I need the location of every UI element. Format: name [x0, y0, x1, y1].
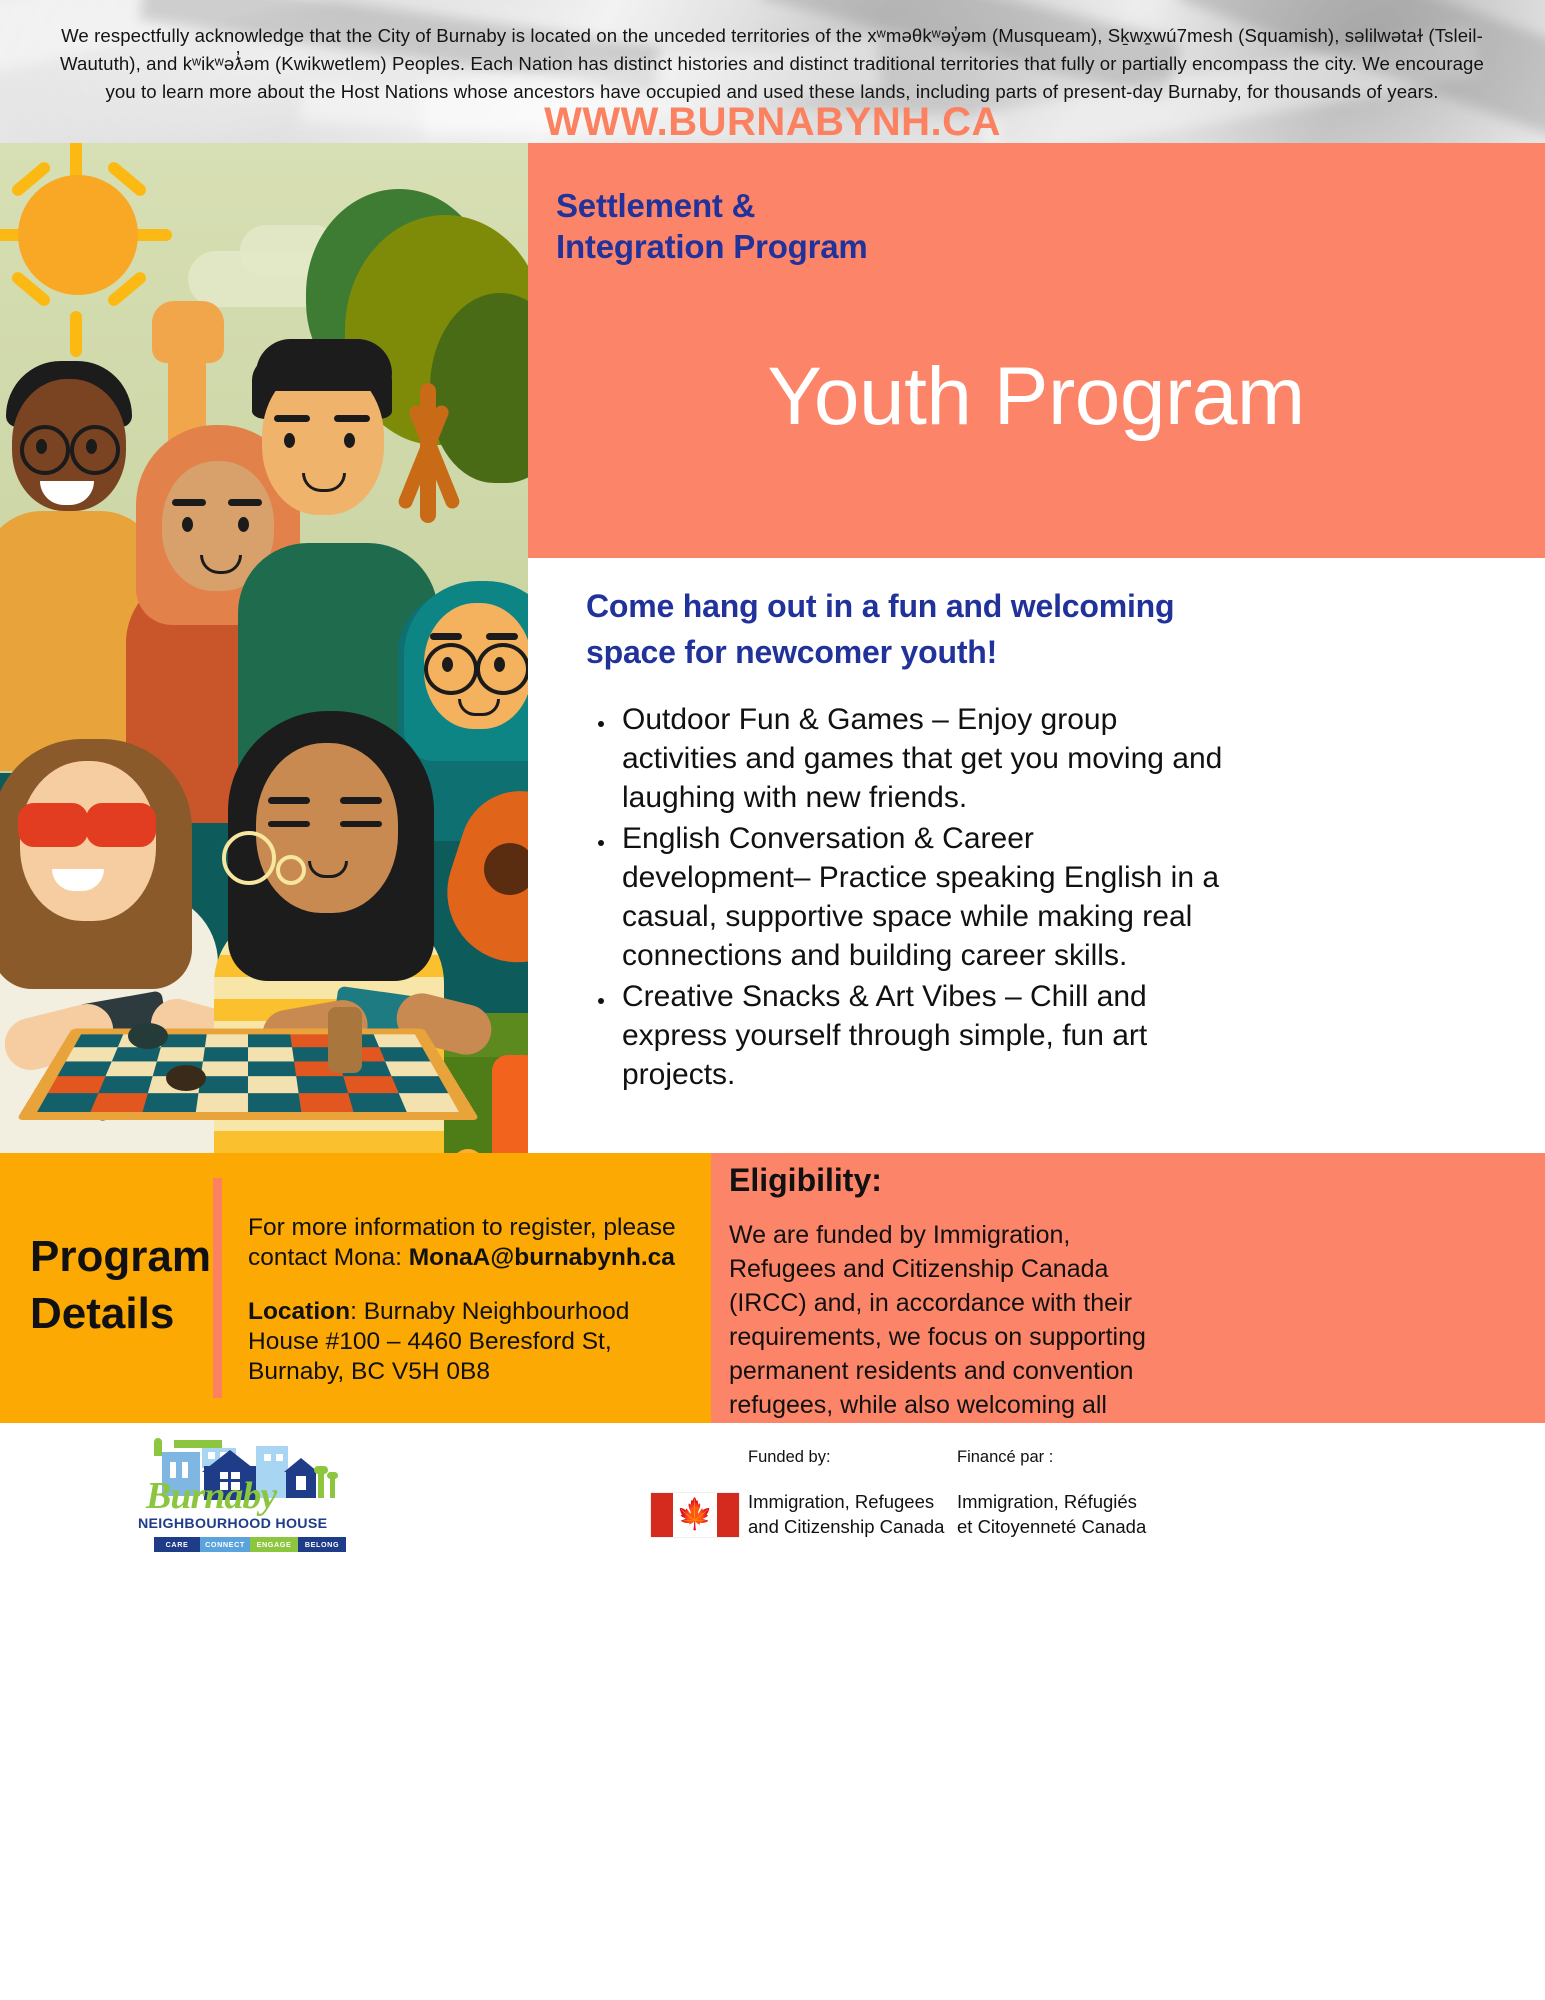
program-details-title: Program Details [30, 1228, 260, 1342]
maple-leaf-icon: 🍁 [676, 1500, 713, 1530]
location-line: Location: Burnaby Neighbourhood House #1… [248, 1297, 700, 1387]
program-details-title-line2: Details [30, 1285, 260, 1342]
chip-belong: BELONG [298, 1537, 346, 1552]
ircc-fr-line2: et Citoyenneté Canada [957, 1514, 1146, 1539]
location-label: Location [248, 1298, 350, 1325]
eligibility-title: Eligibility: [729, 1162, 882, 1199]
ircc-fr-line1: Immigration, Réfugiés [957, 1489, 1146, 1514]
chip-connect: CONNECT [200, 1537, 250, 1552]
sunglasses-icon [86, 803, 156, 847]
water-bottle [492, 1055, 528, 1153]
poster-root: We respectfully acknowledge that the Cit… [0, 0, 1545, 2000]
ircc-en-line1: Immigration, Refugees [748, 1489, 944, 1514]
list-item: Creative Snacks & Art Vibes – Chill and … [616, 977, 1224, 1094]
sunglasses-icon [18, 803, 88, 847]
land-acknowledgement-text: We respectfully acknowledge that the Cit… [46, 22, 1498, 106]
program-bullet-list: Outdoor Fun & Games – Enjoy group activi… [586, 700, 1224, 1096]
ircc-label-french: Immigration, Réfugiés et Citoyenneté Can… [957, 1489, 1146, 1539]
contact-line: For more information to register, please… [248, 1213, 700, 1273]
logo-subtitle: NEIGHBOURHOOD HOUSE [138, 1516, 327, 1532]
chip-engage: ENGAGE [250, 1537, 298, 1552]
list-item: English Conversation & Career developmen… [616, 819, 1224, 975]
funded-by-label: Funded by: [748, 1448, 831, 1467]
raised-hand [152, 301, 224, 363]
eligibility-text: We are funded by Immigration, Refugees a… [729, 1218, 1174, 1456]
contact-email[interactable]: MonaA@burnabynh.ca [409, 1244, 675, 1271]
spacer [248, 1273, 700, 1297]
burnaby-neighbourhood-house-logo: Burnaby NEIGHBOURHOOD HOUSE CARE CONNECT… [128, 1438, 348, 1553]
lead-paragraph: Come hang out in a fun and welcoming spa… [586, 583, 1186, 675]
logo-value-chips: CARE CONNECT ENGAGE BELONG [154, 1537, 346, 1552]
program-kicker-line1: Settlement & [556, 185, 1156, 226]
checker-piece [166, 1065, 206, 1091]
youth-group-illustration [0, 143, 528, 1153]
program-kicker: Settlement & Integration Program [556, 185, 1156, 267]
bubble-large [222, 831, 276, 885]
game-token-tall [328, 1007, 362, 1073]
checker-piece [128, 1023, 168, 1049]
sun-icon [18, 175, 138, 295]
website-url[interactable]: WWW.BURNABYNH.CA [0, 100, 1545, 145]
list-item: Outdoor Fun & Games – Enjoy group activi… [616, 700, 1224, 817]
finance-par-label: Financé par : [957, 1448, 1053, 1467]
program-kicker-line2: Integration Program [556, 226, 1156, 267]
program-details-body: For more information to register, please… [248, 1213, 700, 1387]
canada-flag-icon: 🍁 [650, 1492, 740, 1538]
page-title: Youth Program [556, 350, 1516, 444]
logo-script-text: Burnaby [146, 1474, 276, 1518]
chip-care: CARE [154, 1537, 200, 1552]
bubble-small [276, 855, 306, 885]
ircc-label-english: Immigration, Refugees and Citizenship Ca… [748, 1489, 944, 1539]
checkers-board [16, 1028, 479, 1120]
program-details-title-line1: Program [30, 1228, 260, 1285]
ircc-en-line2: and Citizenship Canada [748, 1514, 944, 1539]
